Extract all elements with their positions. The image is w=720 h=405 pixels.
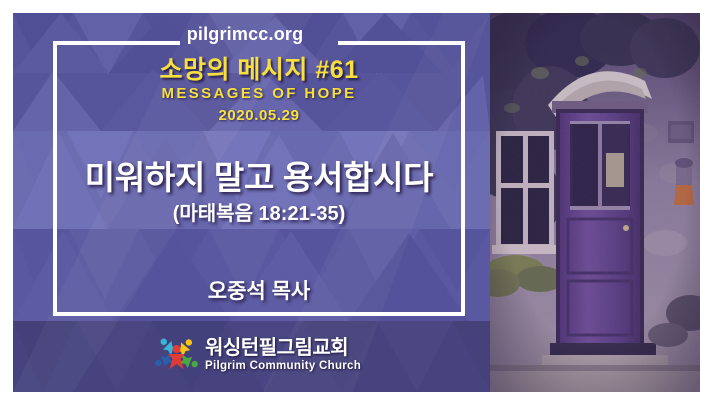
sermon-title-block: 미워하지 말고 용서합시다 (마태복음 18:21-35) (53, 160, 465, 227)
series-date: 2020.05.29 (53, 106, 465, 126)
church-logo: 워싱턴필그림교회 Pilgrim Community Church (155, 332, 365, 380)
church-name-english: Pilgrim Community Church (205, 360, 361, 373)
sermon-title-slide: pilgrimcc.org 소망의 메시지 #61 MESSAGES OF HO… (0, 0, 720, 405)
scripture-reference: (마태복음 18:21-35) (53, 201, 465, 227)
church-name-korean: 워싱턴필그림교회 (205, 338, 361, 359)
star-people-emblem-icon (155, 334, 199, 378)
series-heading-block: 소망의 메시지 #61 MESSAGES OF HOPE 2020.05.29 (53, 57, 465, 125)
purple-door-photo (490, 13, 700, 392)
series-title-korean: 소망의 메시지 #61 (53, 57, 465, 84)
purple-door-photo-image (490, 13, 700, 392)
frame-border-bottom (53, 312, 465, 316)
website-url: pilgrimcc.org (0, 24, 490, 45)
series-title-english: MESSAGES OF HOPE (53, 85, 465, 104)
sermon-title: 미워하지 말고 용서합시다 (53, 160, 465, 197)
church-logo-text: 워싱턴필그림교회 Pilgrim Community Church (205, 338, 361, 373)
speaker-name: 오중석 목사 (53, 275, 465, 305)
